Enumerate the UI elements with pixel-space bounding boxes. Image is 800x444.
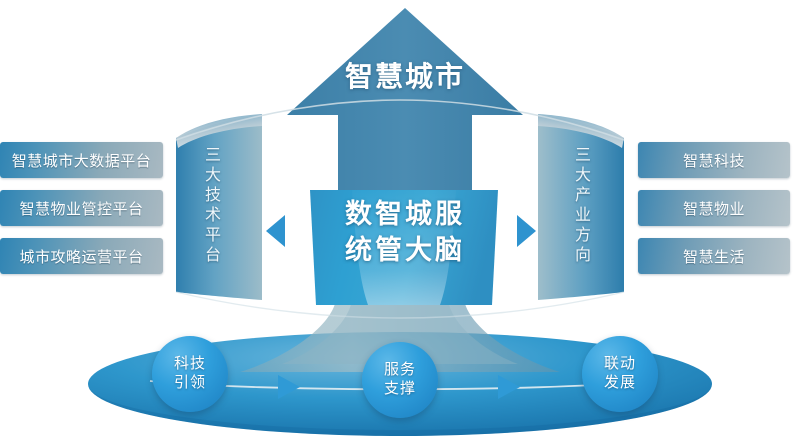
center-core-label: 数智城服 统管大脑 (300, 196, 510, 269)
drum-left-panel (176, 114, 262, 300)
stage-circle-2[interactable]: 服务 支撑 (362, 342, 438, 418)
page-title: 智慧城市 (300, 55, 510, 95)
center-core-line1: 数智城服 (300, 196, 510, 232)
left-label-item-1[interactable]: 智慧城市大数据平台 (0, 142, 163, 178)
stage-1-line1: 科技 (174, 355, 206, 374)
stage-2-line1: 服务 (384, 361, 416, 380)
stage-3-line2: 发展 (604, 374, 636, 393)
left-label-item-2[interactable]: 智慧物业管控平台 (0, 190, 163, 226)
right-label-item-2[interactable]: 智慧物业 (638, 190, 790, 226)
stage-circle-3[interactable]: 联动 发展 (582, 336, 658, 412)
stage-3-line1: 联动 (604, 355, 636, 374)
center-core-line2: 统管大脑 (300, 232, 510, 268)
right-panel-label: 三大产业方向 (572, 146, 588, 266)
left-label-item-3[interactable]: 城市攻略运营平台 (0, 238, 163, 274)
stage-1-line2: 引领 (174, 374, 206, 393)
right-label-item-3[interactable]: 智慧生活 (638, 238, 790, 274)
stage-2-line2: 支撑 (384, 380, 416, 399)
right-label-item-1[interactable]: 智慧科技 (638, 142, 790, 178)
diagram-canvas: 智慧城市 数智城服 统管大脑 三大技术平台 三大产业方向 智慧城市大数据平台 智… (0, 0, 800, 444)
left-panel-label: 三大技术平台 (202, 146, 218, 266)
triangle-left-icon (266, 215, 285, 247)
stage-circle-1[interactable]: 科技 引领 (152, 336, 228, 412)
triangle-right-icon (517, 215, 536, 247)
